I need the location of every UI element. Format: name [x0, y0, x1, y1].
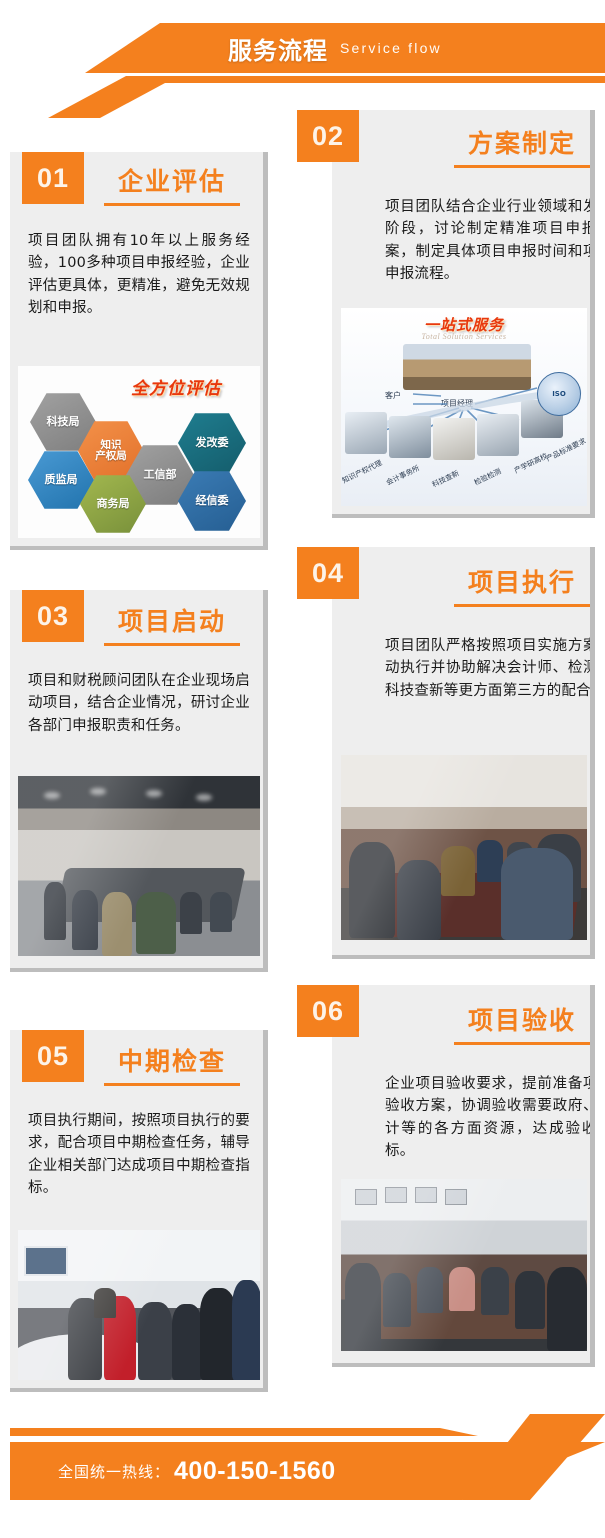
card-title-block: 项目执行: [427, 563, 595, 607]
card-title: 项目验收: [427, 1001, 595, 1037]
card-media-hexagon-diagram: 全方位评估 科技局 知识产权局 质监局 工信部 商务局 发改委 经信委: [18, 366, 260, 538]
card-media-one-stop-service: 一站式服务 Total Solution Services 客户 项目经理 IS…: [341, 308, 587, 506]
card-title: 企业评估: [84, 162, 260, 198]
card-title: 项目执行: [427, 563, 595, 599]
page-header: 服务流程 Service flow: [0, 0, 605, 96]
card-number-badge: 03: [22, 590, 84, 642]
step-card-03[interactable]: 项目启动 项目和财税顾问团队在企业现场启动项目，结合企业情况，研讨企业各部门申报…: [10, 590, 268, 972]
card-media-photo: [18, 776, 260, 956]
card-description: 企业项目验收要求，提前准备项目验收方案，协调验收需要政府、审计等的各方面资源，达…: [385, 1073, 595, 1163]
card-number-badge: 06: [297, 985, 359, 1037]
card-number-badge: 02: [297, 110, 359, 162]
hexagon-diagram: 全方位评估 科技局 知识产权局 质监局 工信部 商务局 发改委 经信委: [18, 366, 260, 538]
header-accent-stripe: [0, 76, 605, 83]
card-media-photo: [341, 1179, 587, 1351]
card-title: 项目启动: [84, 602, 260, 638]
hotline-number[interactable]: 400-150-1560: [174, 1457, 336, 1486]
step-card-02[interactable]: 方案制定 项目团队结合企业行业领域和发展阶段，讨论制定精准项目申报方案，制定具体…: [297, 110, 595, 518]
thumb-ip-agency: [345, 412, 387, 454]
card-title-block: 中期检查: [84, 1042, 260, 1086]
title-underline: [454, 165, 590, 168]
title-underline: [104, 643, 240, 646]
card-body: 企业评估 项目团队拥有10年以上服务经验，100多种项目申报经验，企业评估更具体…: [10, 152, 268, 550]
title-underline: [454, 1042, 590, 1045]
page-title-en: Service flow: [340, 40, 442, 56]
thumb-tech-novelty-search: [433, 418, 475, 460]
card-description: 项目团队拥有10年以上服务经验，100多种项目申报经验，企业评估更具体，更精准，…: [28, 230, 250, 320]
thumb-accounting-firm: [389, 416, 431, 458]
photo-showroom-visit: [18, 1230, 260, 1380]
photo-meeting-table: [341, 755, 587, 940]
step-card-04[interactable]: 项目执行 项目团队严格按照项目实施方案推动执行并协助解决会计师、检测、科技查新等…: [297, 547, 595, 959]
card-number-badge: 01: [22, 152, 84, 204]
card-description: 项目执行期间，按照项目执行的要求，配合项目中期检查任务，辅导企业相关部门达成项目…: [28, 1110, 250, 1200]
title-underline: [104, 1083, 240, 1086]
step-card-05[interactable]: 中期检查 项目执行期间，按照项目执行的要求，配合项目中期检查任务，辅导企业相关部…: [10, 1030, 268, 1392]
card-number-badge: 05: [22, 1030, 84, 1082]
card-body: 中期检查 项目执行期间，按照项目执行的要求，配合项目中期检查任务，辅导企业相关部…: [10, 1030, 268, 1392]
card-title: 方案制定: [427, 124, 595, 160]
title-underline: [454, 604, 590, 607]
step-card-06[interactable]: 项目验收 企业项目验收要求，提前准备项目验收方案，协调验收需要政府、审计等的各方…: [297, 985, 595, 1367]
card-title-block: 方案制定: [427, 124, 595, 168]
header-wedge-decoration: [48, 76, 178, 118]
card-description: 项目团队结合企业行业领域和发展阶段，讨论制定精准项目申报方案，制定具体项目申报时…: [385, 196, 595, 286]
card-number-badge: 04: [297, 547, 359, 599]
hexagon-fagai: 发改委: [178, 412, 246, 474]
card-title-block: 企业评估: [84, 162, 260, 206]
photo-conference-room: [18, 776, 260, 956]
card-media-photo: [341, 755, 587, 940]
step-card-01[interactable]: 企业评估 项目团队拥有10年以上服务经验，100多种项目申报经验，企业评估更具体…: [10, 152, 268, 550]
page-title: 服务流程 Service flow: [0, 23, 605, 73]
photo-boardroom: [341, 1179, 587, 1351]
thumb-inspection-testing: [477, 414, 519, 456]
page-footer: 全国统一热线： 400-150-1560: [0, 1414, 605, 1538]
card-title: 中期检查: [84, 1042, 260, 1078]
title-underline: [104, 203, 240, 206]
hexagon-diagram-title: 全方位评估: [106, 374, 246, 399]
page-title-cn: 服务流程: [228, 31, 328, 66]
card-media-photo: [18, 1230, 260, 1380]
card-description: 项目团队严格按照项目实施方案推动执行并协助解决会计师、检测、科技查新等更方面第三…: [385, 635, 595, 702]
card-body: 项目启动 项目和财税顾问团队在企业现场启动项目，结合企业情况，研讨企业各部门申报…: [10, 590, 268, 972]
one-stop-service-diagram: 一站式服务 Total Solution Services 客户 项目经理 IS…: [341, 308, 587, 506]
card-title-block: 项目启动: [84, 602, 260, 646]
hotline-block: 全国统一热线： 400-150-1560: [10, 1442, 453, 1500]
certification-seal-icon: ISO: [537, 372, 581, 416]
hotline-label: 全国统一热线：: [58, 1461, 170, 1482]
card-title-block: 项目验收: [427, 1001, 595, 1045]
card-description: 项目和财税顾问团队在企业现场启动项目，结合企业情况，研讨企业各部门申报职责和任务…: [28, 670, 250, 737]
